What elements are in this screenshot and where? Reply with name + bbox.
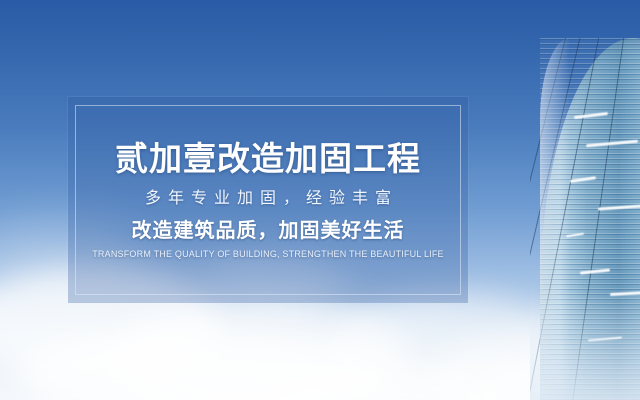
slogan-chinese: 改造建筑品质，加固美好生活	[132, 221, 405, 241]
subtitle-chinese: 多年专业加固，经验丰富	[138, 191, 398, 207]
cloud-shape	[20, 330, 380, 400]
banner-stage: 贰加壹改造加固工程 多年专业加固，经验丰富 改造建筑品质，加固美好生活 TRAN…	[0, 0, 640, 400]
page-title: 贰加壹改造加固工程	[115, 142, 421, 175]
headline-copy-group: 贰加壹改造加固工程 多年专业加固，经验丰富 改造建筑品质，加固美好生活 TRAN…	[76, 106, 460, 294]
headline-panel-border: 贰加壹改造加固工程 多年专业加固，经验丰富 改造建筑品质，加固美好生活 TRAN…	[75, 105, 461, 295]
cloud-shape	[110, 300, 410, 400]
slogan-english: TRANSFORM THE QUALITY OF BUILDING, STREN…	[92, 250, 444, 259]
skyscraper-floor-bands	[540, 38, 640, 400]
cloud-shape	[250, 370, 510, 400]
headline-panel: 贰加壹改造加固工程 多年专业加固，经验丰富 改造建筑品质，加固美好生活 TRAN…	[68, 97, 468, 303]
skyscraper-image	[530, 38, 640, 400]
skyscraper-body	[540, 38, 640, 400]
